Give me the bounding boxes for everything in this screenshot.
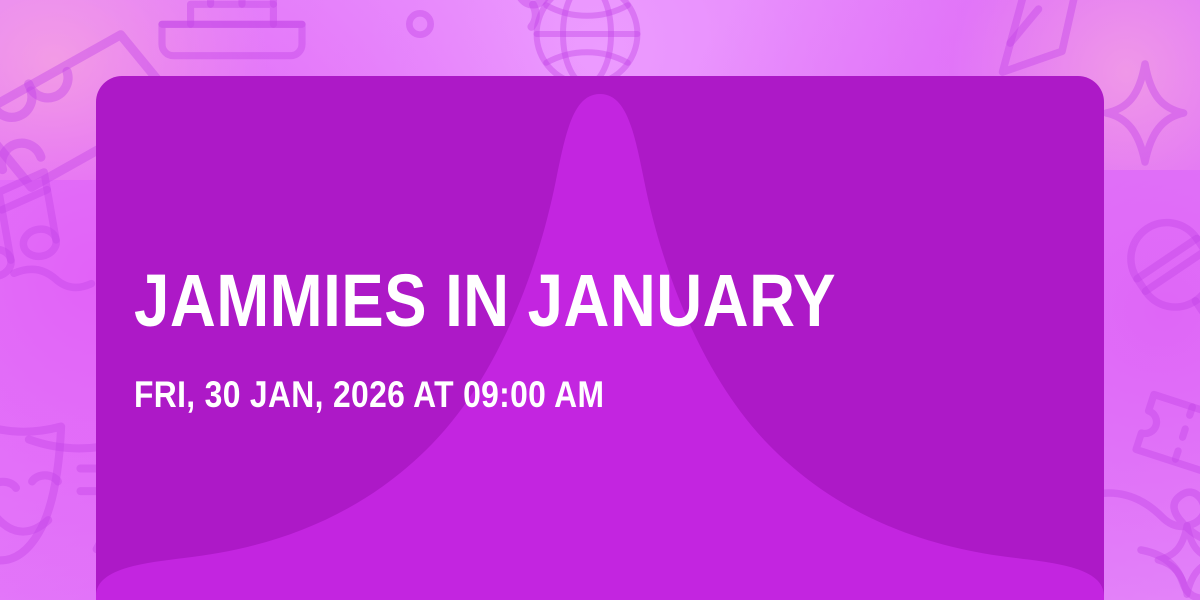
microphone-icon (1090, 185, 1200, 376)
balloon-icon (508, 0, 558, 30)
sparkle-icon (1100, 58, 1190, 168)
sparkle-icon (1152, 520, 1200, 600)
event-datetime: FRI, 30 JAN, 2026 AT 09:00 AM (134, 376, 874, 413)
event-card-content: JAMMIES IN JANUARY FRI, 30 JAN, 2026 AT … (134, 76, 994, 600)
page-title: JAMMIES IN JANUARY (134, 265, 874, 336)
event-card: JAMMIES IN JANUARY FRI, 30 JAN, 2026 AT … (96, 76, 1104, 600)
event-banner: JAMMIES IN JANUARY FRI, 30 JAN, 2026 AT … (0, 0, 1200, 600)
cake-icon (152, 0, 312, 70)
confetti-dot-icon (404, 8, 436, 40)
